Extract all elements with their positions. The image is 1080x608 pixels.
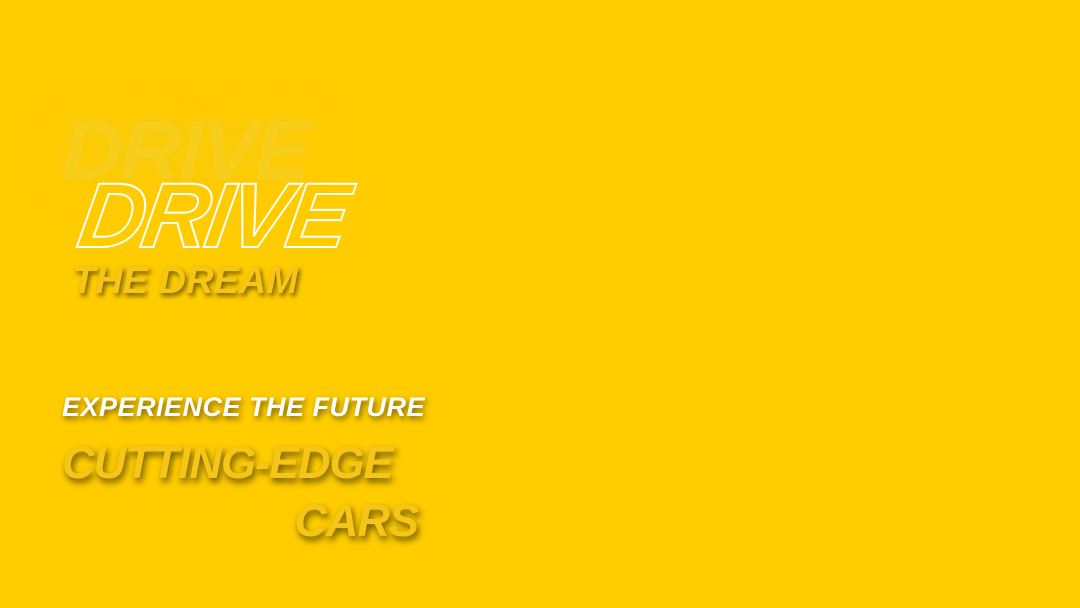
kicker-text: EXPERIENCE THE FUTURE xyxy=(62,392,442,423)
headline-line-1: CUTTING-EDGE xyxy=(62,437,442,489)
car-turn-signal-right xyxy=(906,408,938,422)
lower-copy-block: EXPERIENCE THE FUTURE CUTTING-EDGE CARS xyxy=(62,392,442,547)
car-headlight-right xyxy=(942,386,987,433)
title-stack: DRIVE DRIVE THE DREAM xyxy=(62,108,442,268)
car-turn-signal-left xyxy=(787,410,823,424)
headline-copy-block: DRIVE DRIVE THE DREAM xyxy=(62,108,442,268)
car-side-mirror xyxy=(446,336,476,348)
car-headlight-left xyxy=(730,397,778,444)
halftone-dot-overlay xyxy=(876,52,1002,220)
driver-face xyxy=(460,308,479,330)
car-front-wheel xyxy=(822,469,912,546)
car-hood-highlight xyxy=(703,341,930,369)
car-rear-rim xyxy=(551,469,608,530)
subtitle: THE DREAM xyxy=(72,260,298,303)
hero-photo xyxy=(428,52,1002,546)
hazard-stripes-top xyxy=(98,42,518,78)
title-outline: DRIVE xyxy=(73,170,354,262)
headline-line-2: CARS xyxy=(62,495,442,547)
poster-canvas: DRIVE DRIVE THE DREAM EXPERIENCE THE FUT… xyxy=(0,0,1080,608)
hazard-stripes-bottom xyxy=(700,537,1000,567)
photo-car xyxy=(428,269,1002,546)
photo-frame-border xyxy=(426,50,1004,548)
